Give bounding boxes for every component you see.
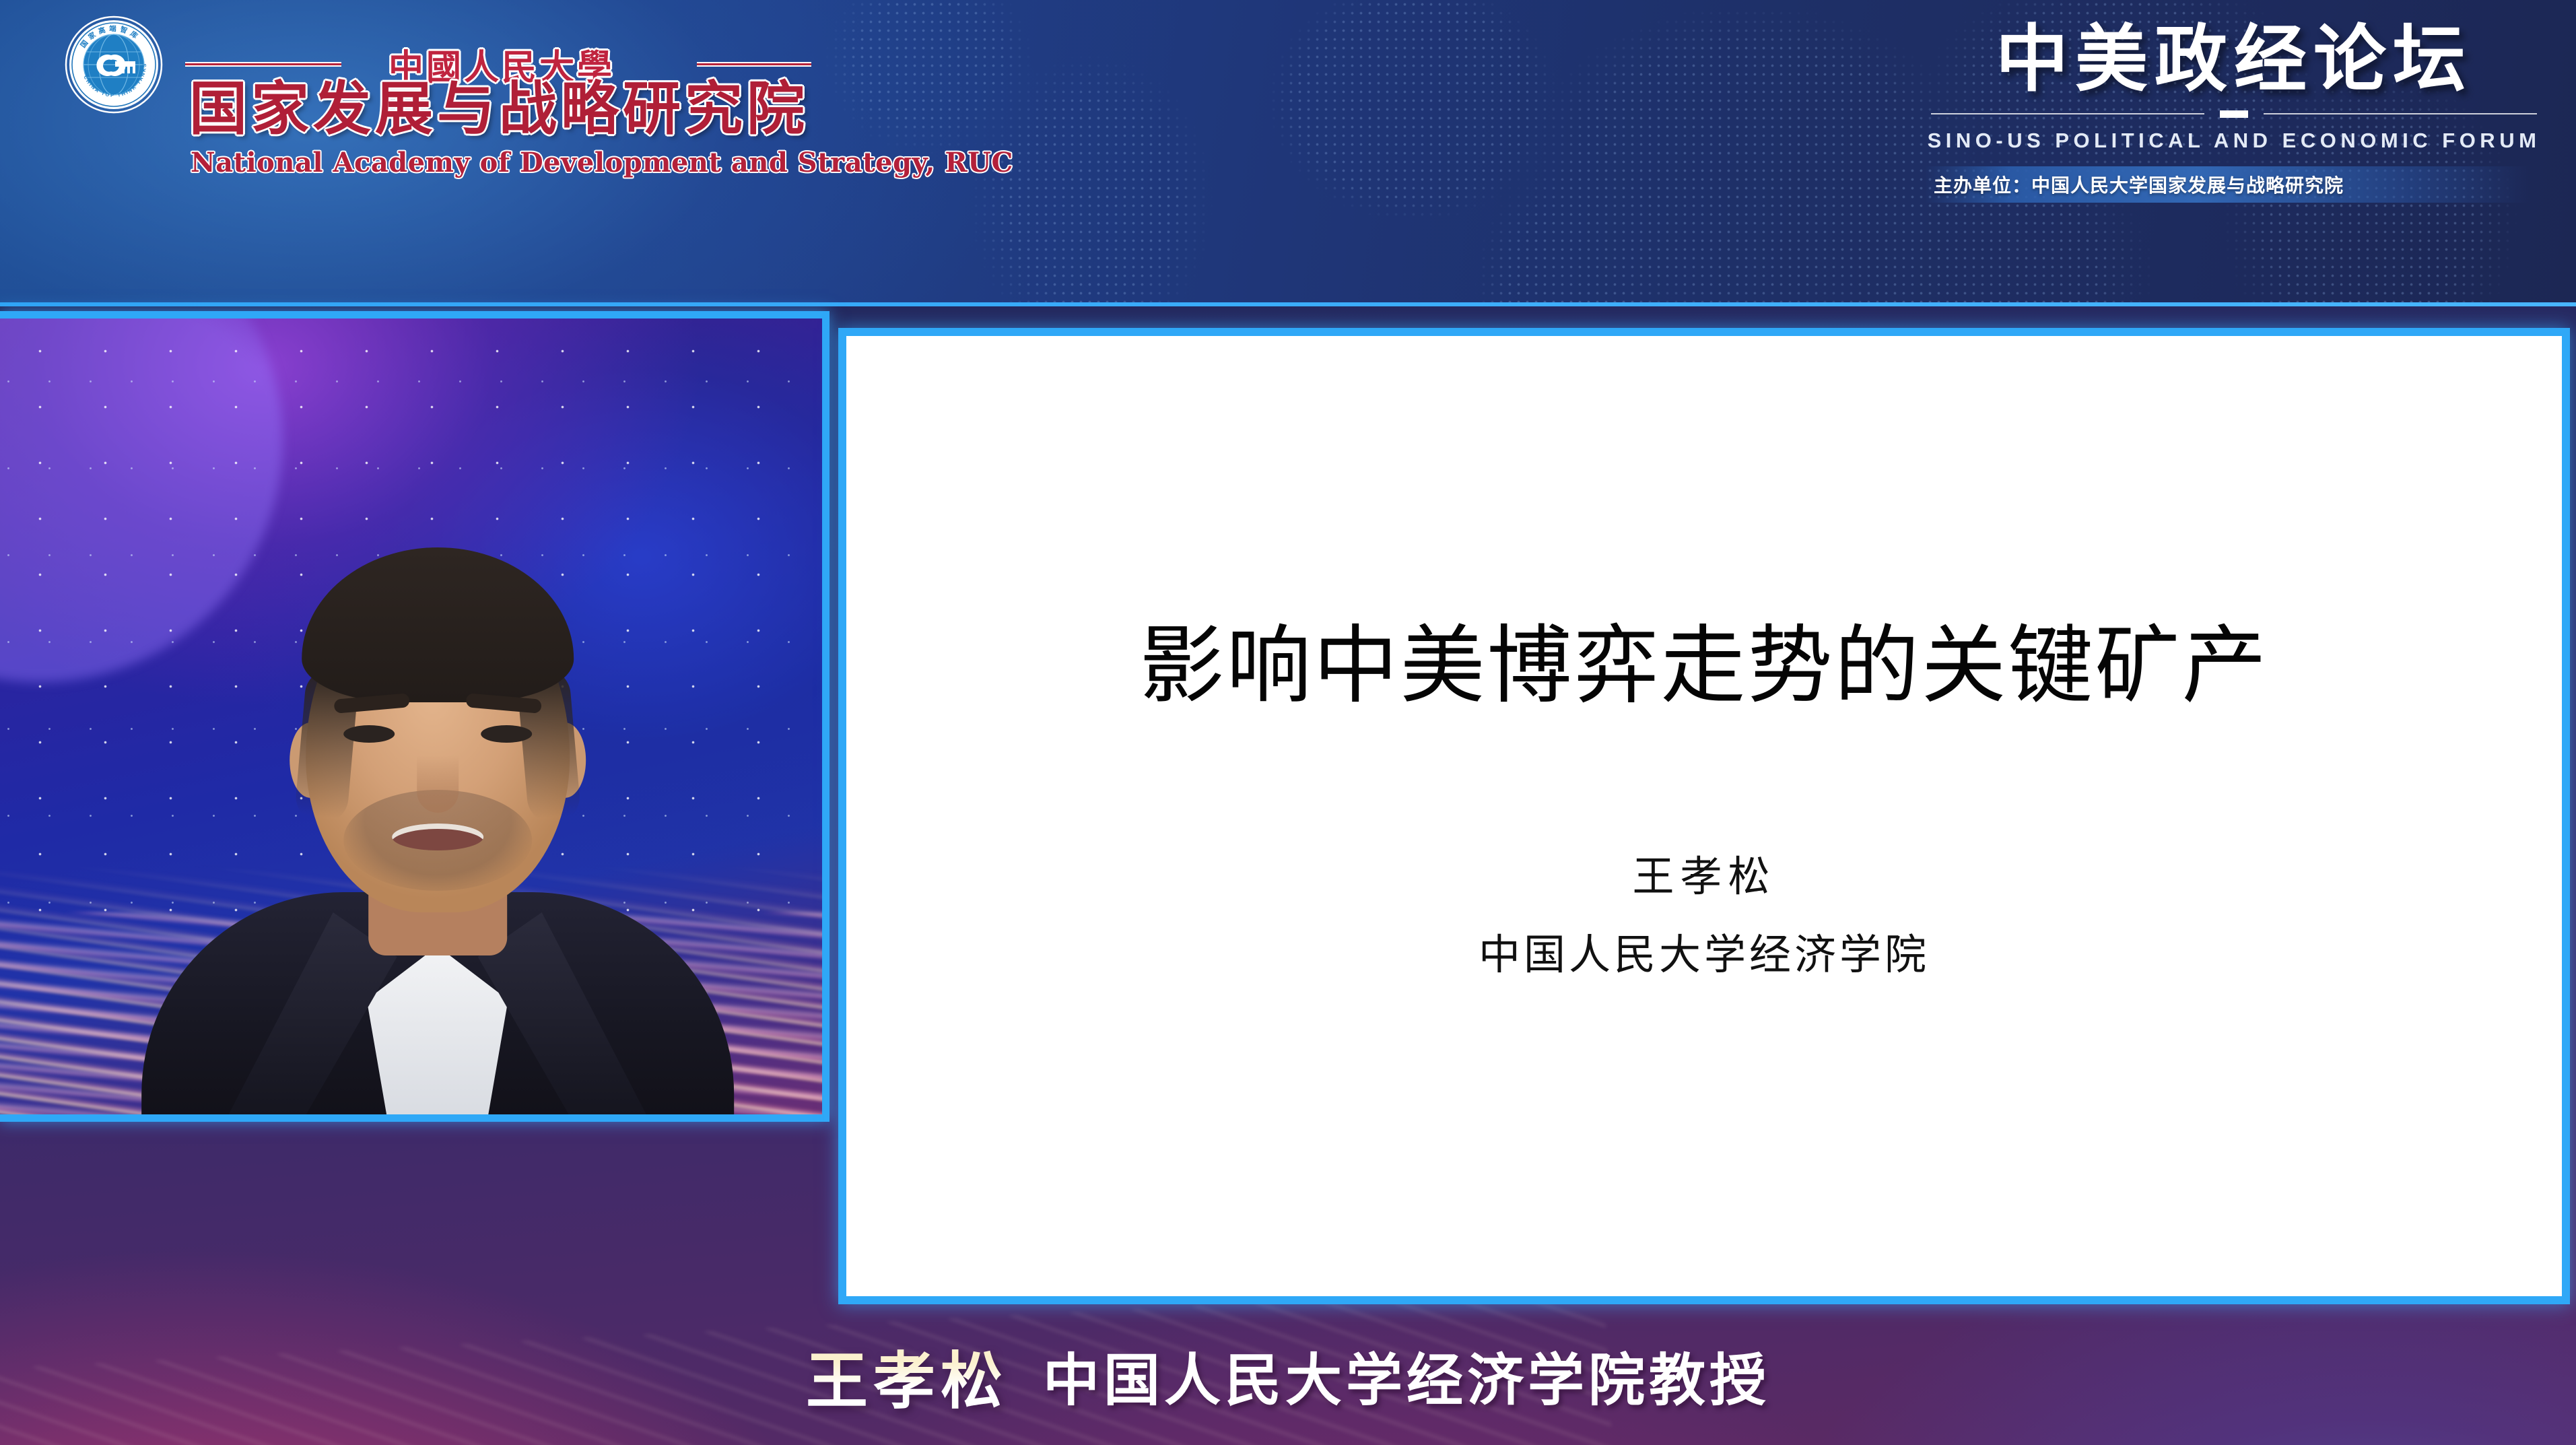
forum-title-en: SINO-US POLITICAL AND ECONOMIC FORUM (1924, 129, 2544, 153)
broadcast-stage: 国家高端智库 CHINA TOP THINK TANKS 中國人民大學 国家发展… (0, 0, 2576, 1445)
institute-branding: 国家高端智库 CHINA TOP THINK TANKS 中國人民大學 国家发展… (64, 15, 845, 217)
speaker-mouth (392, 824, 483, 850)
divider-line-right (2264, 113, 2537, 114)
speaker-eye-left (343, 725, 395, 743)
speaker-eye-right (481, 725, 532, 743)
slide-author: 王孝松 (1632, 842, 1775, 903)
divider-line-left (1931, 113, 2204, 114)
header-banner: 国家高端智库 CHINA TOP THINK TANKS 中國人民大學 国家发展… (0, 0, 2576, 306)
speaker-video-panel[interactable] (0, 311, 829, 1122)
speaker-name: 王孝松 (806, 1331, 1008, 1421)
header-accent-line (0, 302, 2576, 306)
presentation-slide-panel[interactable]: 影响中美博弈走势的关键矿产 王孝松 中国人民大学经济学院 (838, 328, 2570, 1304)
speaker-hair (302, 547, 574, 702)
forum-host-bar: 主办单位：中国人民大学国家发展与战略研究院 (1924, 166, 2530, 203)
video-feed (0, 318, 822, 1114)
forum-host-text: 主办单位：中国人民大学国家发展与战略研究院 (1924, 171, 2344, 198)
speaker-portrait (108, 401, 768, 1114)
rule-right (697, 62, 811, 67)
divider-dash (2220, 110, 2248, 118)
lower-third-banner: 王孝松 中国人民大学经济学院教授 (0, 1306, 2576, 1445)
rule-left (185, 62, 341, 67)
institute-name-en: National Academy of Development and Stra… (191, 147, 837, 178)
forum-title-cn: 中美政经论坛 (1924, 19, 2544, 100)
slide-title: 影响中美博弈走势的关键矿产 (1140, 597, 2269, 720)
slide-content: 影响中美博弈走势的关键矿产 王孝松 中国人民大学经济学院 (846, 336, 2562, 1296)
speaker-nose (417, 755, 459, 813)
slide-affiliation: 中国人民大学经济学院 (1479, 920, 1930, 981)
institute-name-cn: 国家发展与战略研究院 (189, 78, 836, 139)
forum-branding: 中美政经论坛 SINO-US POLITICAL AND ECONOMIC FO… (1924, 19, 2544, 203)
think-tank-seal-icon: 国家高端智库 CHINA TOP THINK TANKS (64, 15, 164, 114)
speaker-title: 中国人民大学经济学院教授 (1043, 1335, 1770, 1417)
forum-divider (1931, 110, 2537, 118)
